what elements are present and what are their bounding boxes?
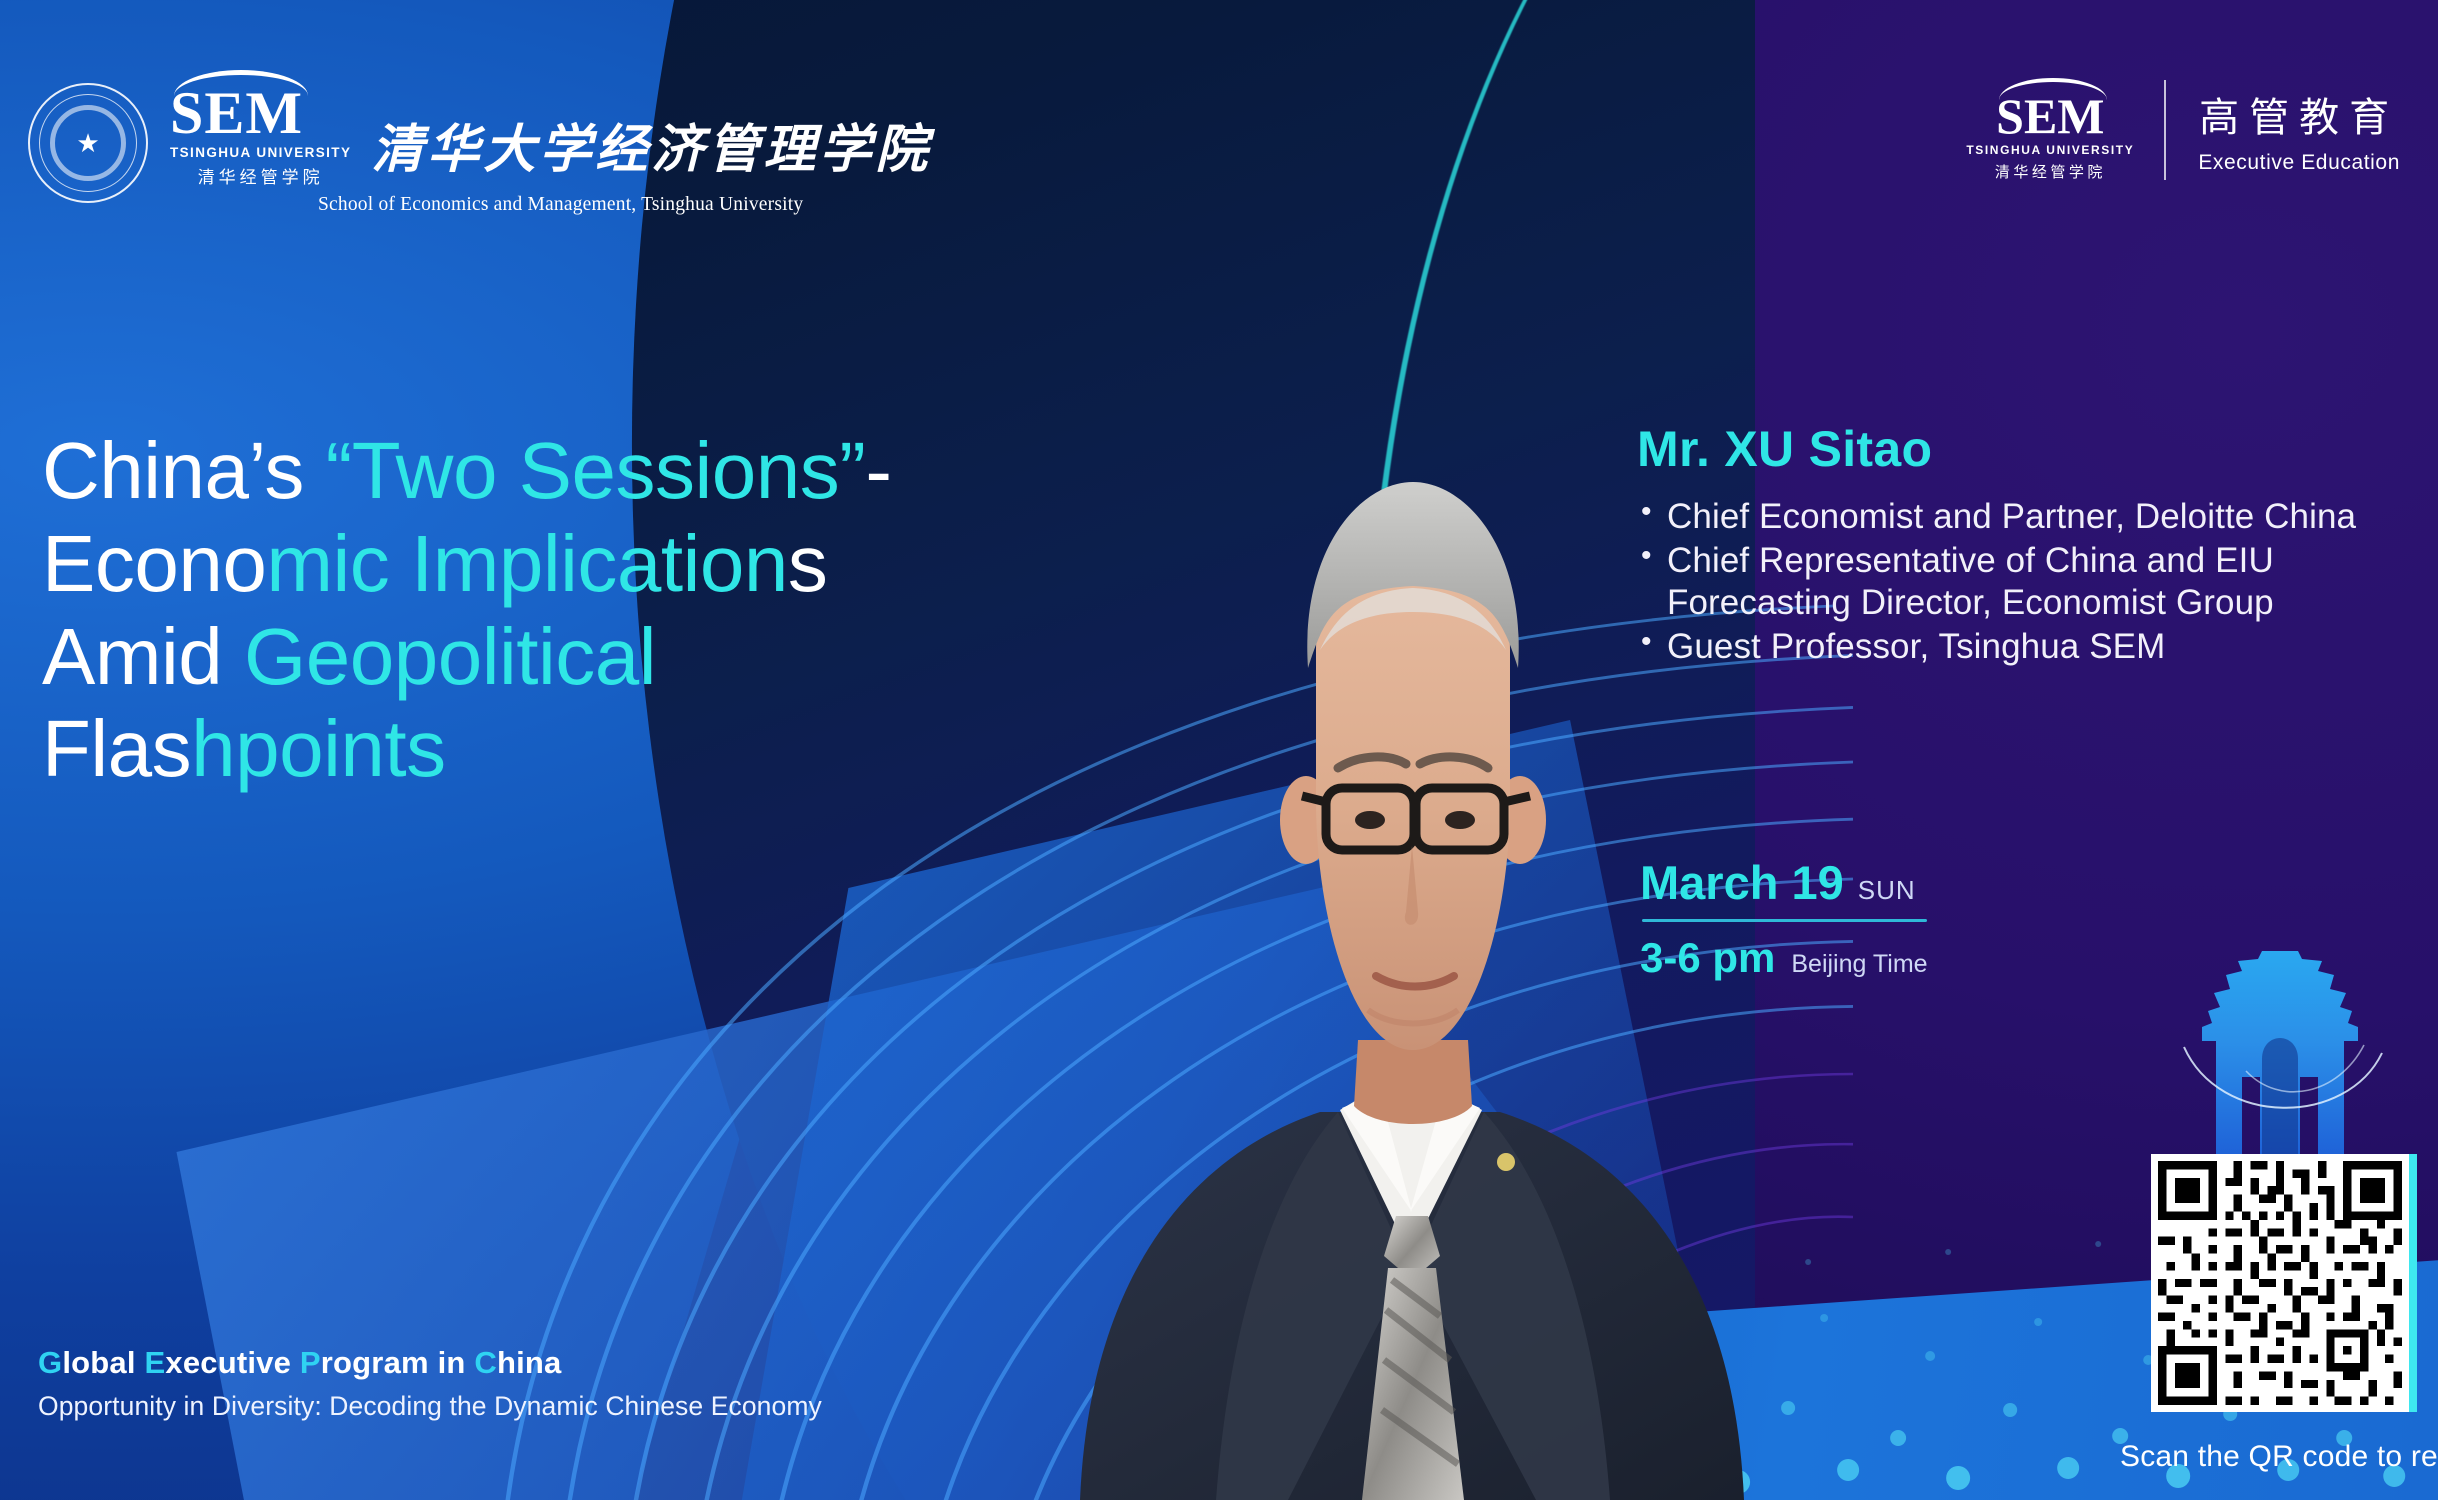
title-line-3: Amid Geopolitical [42, 611, 1222, 704]
list-item: Chief Economist and Partner, Deloitte Ch… [1637, 496, 2427, 538]
speaker-credentials-list: Chief Economist and Partner, Deloitte Ch… [1637, 496, 2427, 668]
title-line-1: China’s “Two Sessions”- [42, 425, 1222, 518]
sem-university-label: TSINGHUA UNIVERSITY [170, 145, 351, 160]
speaker-name: Mr. XU Sitao [1637, 420, 2427, 478]
title-line-4: Flashpoints [42, 703, 1222, 796]
tsinghua-seal-icon: ★ [28, 83, 148, 203]
program-name: Global Executive Program in China [38, 1344, 822, 1381]
sem-university-label-right: TSINGHUA UNIVERSITY [1966, 143, 2134, 157]
program-word: xecutive [165, 1345, 300, 1380]
title-line-2: Economic Implications [42, 518, 1222, 611]
event-weekday: SUN [1858, 875, 1916, 906]
title-seg: mic Implication [266, 519, 788, 608]
page-title: China’s “Two Sessions”- Economic Implica… [42, 425, 1222, 796]
list-item: Chief Representative of China and EIU Fo… [1637, 540, 2427, 624]
sem-arc-icon [174, 70, 308, 96]
title-seg: Amid [42, 612, 244, 701]
sem-executive-education-logo: SEM TSINGHUA UNIVERSITY 清华经管学院 高管教育 Exec… [1966, 78, 2400, 182]
datetime-divider [1642, 919, 1927, 922]
title-seg: “Two Sessions” [326, 426, 866, 515]
event-poster: ★ SEM TSINGHUA UNIVERSITY 清华经管学院 清华大学经济管… [0, 0, 2438, 1500]
speaker-info-block: Mr. XU Sitao Chief Economist and Partner… [1637, 420, 2427, 670]
executive-education-chinese: 高管教育 [2199, 85, 2399, 143]
program-initial: P [300, 1345, 321, 1380]
program-initial: G [38, 1345, 62, 1380]
registration-qr-block[interactable]: Scan the QR code to register [2130, 949, 2430, 1412]
seal-star-icon: ★ [76, 130, 99, 156]
qr-caption: Scan the QR code to register [2120, 1440, 2420, 1474]
school-name-chinese: 清华大学经济管理学院 [371, 107, 931, 188]
list-item: Guest Professor, Tsinghua SEM [1637, 626, 2427, 668]
school-name-english: School of Economics and Management, Tsin… [318, 194, 931, 216]
program-word: rogram in [321, 1345, 475, 1380]
event-date: March 19 [1640, 855, 1844, 910]
program-initial: C [474, 1345, 497, 1380]
title-seg: Geopolitical [244, 612, 656, 701]
title-seg: Flas [42, 704, 191, 793]
title-seg: s [788, 519, 828, 608]
program-footer: Global Executive Program in China Opport… [38, 1344, 822, 1422]
sem-chinese-label-right: 清华经管学院 [1995, 161, 2106, 182]
program-word: hina [497, 1345, 562, 1380]
sem-arc-icon-right [1999, 78, 2107, 100]
program-word: lobal [62, 1345, 144, 1380]
event-timezone: Beijing Time [1791, 950, 1927, 979]
event-time: 3-6 pm [1640, 934, 1775, 982]
executive-education-english: Executive Education [2198, 151, 2400, 175]
event-datetime-block: March 19 SUN 3-6 pm Beijing Time [1640, 855, 1928, 982]
tsinghua-gate-icon [2150, 949, 2410, 1154]
tsinghua-sem-logo-left: ★ SEM TSINGHUA UNIVERSITY 清华经管学院 清华大学经济管… [28, 70, 931, 216]
sem-chinese-label: 清华经管学院 [170, 163, 351, 188]
title-seg: hpoints [191, 704, 445, 793]
program-initial: E [144, 1345, 165, 1380]
title-seg: - [865, 426, 891, 515]
qr-code[interactable] [2151, 1154, 2409, 1412]
title-seg: Econo [42, 519, 266, 608]
program-tagline: Opportunity in Diversity: Decoding the D… [38, 1391, 822, 1422]
title-seg: China’s [42, 426, 326, 515]
